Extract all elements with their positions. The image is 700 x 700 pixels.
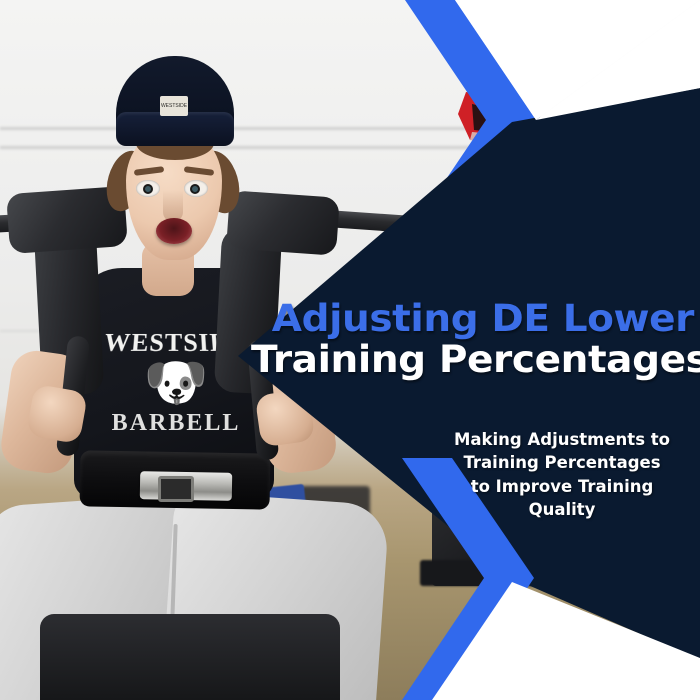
subtitle-block: Making Adjustments to Training Percentag… bbox=[448, 428, 676, 522]
subtitle-line-1: Making Adjustments to bbox=[448, 428, 676, 451]
subtitle-line-4: Quality bbox=[448, 498, 676, 521]
subtitle-line-2: Training Percentages bbox=[448, 451, 676, 474]
subtitle-line-3: to Improve Training bbox=[448, 475, 676, 498]
headline-line-1: Adjusting DE Lower bbox=[251, 300, 694, 336]
title-card-graphic: WESTSIDE 🐶 BARBELL WESTSIDE bbox=[0, 0, 700, 700]
headline-line-2: Training Percentages bbox=[251, 341, 694, 377]
headline-block: Adjusting DE Lower Training Percentages bbox=[268, 300, 694, 377]
